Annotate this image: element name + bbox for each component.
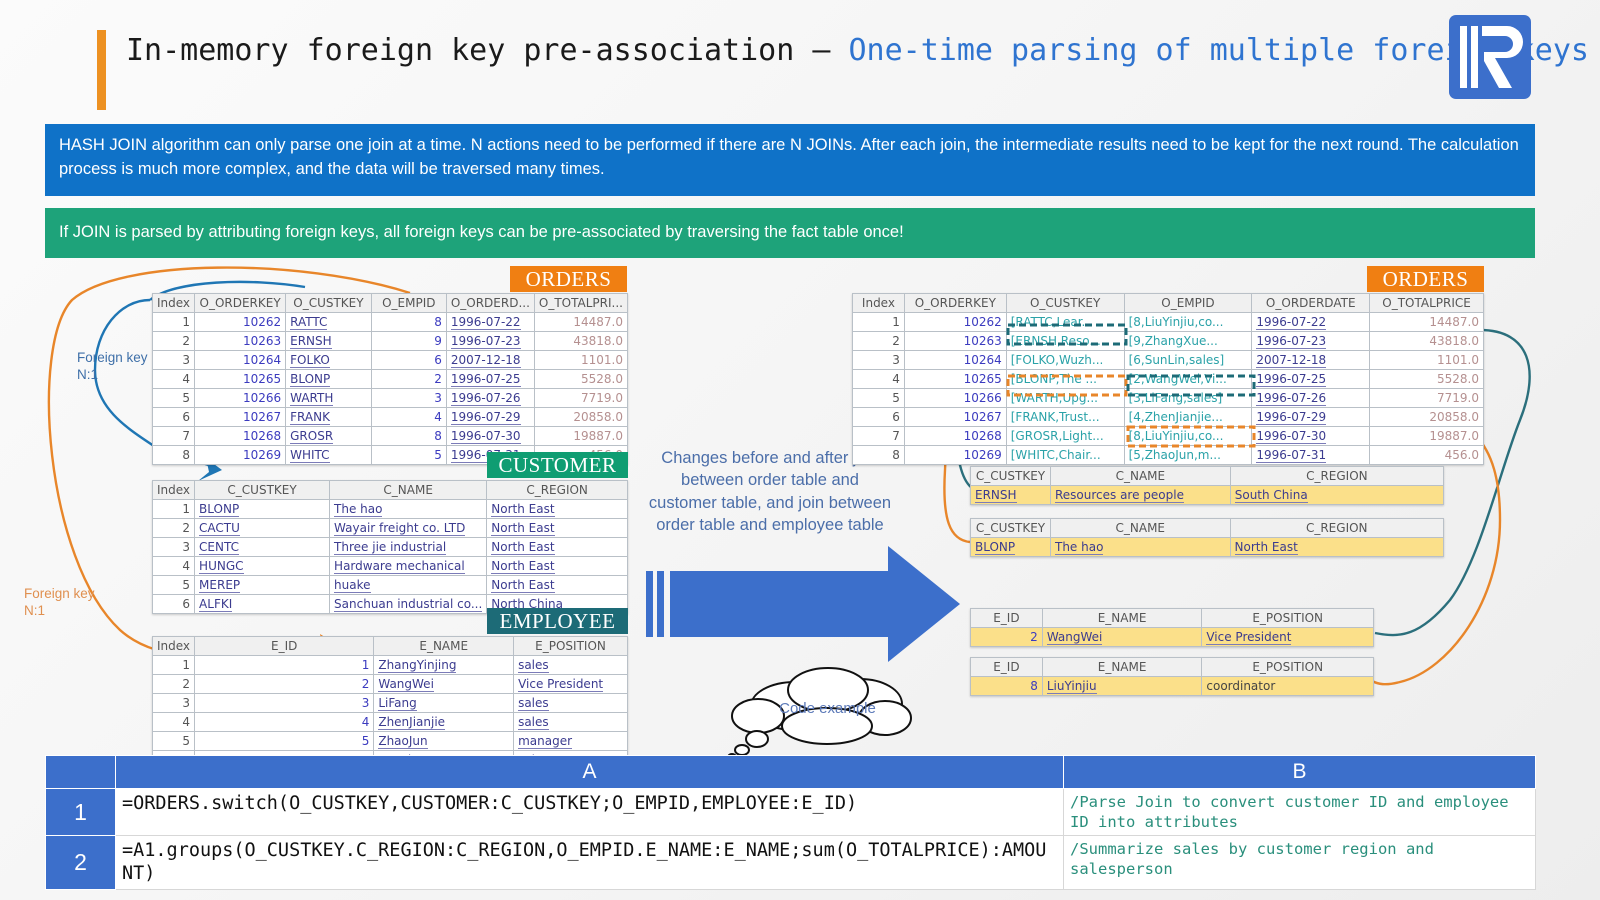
- table-cell: North East: [487, 557, 628, 576]
- table-cell: [6,SunLin,sales]: [1124, 351, 1252, 370]
- table-cell: 5: [195, 732, 374, 751]
- label-foreign-key-top-l2: N:1: [77, 367, 172, 384]
- code-row: 1=ORDERS.switch(O_CUSTKEY,CUSTOMER:C_CUS…: [46, 789, 1536, 836]
- table-cell: [WHITC,Chair...: [1006, 446, 1124, 465]
- table-row: 410265BLONP21996-07-255528.0: [153, 370, 628, 389]
- table-cell: 10266: [904, 389, 1006, 408]
- table-cell: ERNSH: [971, 486, 1051, 505]
- table-cell: 3: [853, 351, 905, 370]
- table-employee-result-2: E_IDE_NAMEE_POSITION 8LiuYinjiucoordinat…: [970, 657, 1374, 696]
- table-cell: North East: [487, 519, 628, 538]
- code-row: 2=A1.groups(O_CUSTKEY.C_REGION:C_REGION,…: [46, 836, 1536, 889]
- table-cell: 1996-07-22: [1252, 313, 1370, 332]
- table-row: 5MEREPhuakeNorth East: [153, 576, 628, 595]
- code-col-header-a: A: [116, 756, 1064, 789]
- code-row-number: 1: [46, 789, 116, 836]
- table-cell: 10262: [904, 313, 1006, 332]
- col-header-index: Index: [853, 294, 905, 313]
- table-row: 110262RATTC81996-07-2214487.0: [153, 313, 628, 332]
- table-cell: coordinator: [1202, 677, 1374, 696]
- table-cell: 10265: [904, 370, 1006, 389]
- code-table-wrap: A B 1=ORDERS.switch(O_CUSTKEY,CUSTOMER:C…: [45, 755, 1535, 890]
- table-orders-left: IndexO_ORDERKEYO_CUSTKEYO_EMPIDO_ORDERD.…: [152, 293, 628, 465]
- table-cell: 4: [153, 557, 195, 576]
- table-row: 2WangWeiVice President: [971, 628, 1374, 647]
- table-cell: North East: [487, 500, 628, 519]
- table-cell: BLONP: [286, 370, 372, 389]
- table-cell: 6: [153, 408, 195, 427]
- table-cell: 5: [153, 576, 195, 595]
- slide-canvas: In-memory foreign key pre-association – …: [0, 0, 1600, 900]
- table-header-row: IndexO_ORDERKEYO_CUSTKEYO_EMPIDO_ORDERDA…: [853, 294, 1484, 313]
- table-cell: Sanchuan industrial co...: [330, 595, 487, 614]
- table-cell: 1996-07-23: [1252, 332, 1370, 351]
- table-cell: 3: [371, 389, 446, 408]
- table-cell: [8,LiuYinjiu,co...: [1124, 313, 1252, 332]
- title-accent-bar: [97, 30, 106, 110]
- table-cell: North East: [487, 538, 628, 557]
- col-header-o-custkey: O_CUSTKEY: [1006, 294, 1124, 313]
- table-cell: 1996-07-29: [446, 408, 534, 427]
- table-cell: ZhenJianjie: [374, 713, 514, 732]
- col-header-o-orderdate: O_ORDERDATE: [1252, 294, 1370, 313]
- col-header-o-totalpri: O_TOTALPRI...: [534, 294, 627, 313]
- table-cell: Resources are people: [1050, 486, 1230, 505]
- table-orders-right: IndexO_ORDERKEYO_CUSTKEYO_EMPIDO_ORDERDA…: [852, 293, 1484, 465]
- table-row: 810269[WHITC,Chair...[5,ZhaoJun,m...1996…: [853, 446, 1484, 465]
- code-row-number: 2: [46, 836, 116, 889]
- table-header-row: C_CUSTKEYC_NAMEC_REGION: [971, 519, 1444, 538]
- col-header-c-custkey: C_CUSTKEY: [971, 519, 1051, 538]
- table-cell: FOLKO: [286, 351, 372, 370]
- table-row: BLONPThe haoNorth East: [971, 538, 1444, 557]
- table-cell: BLONP: [195, 500, 330, 519]
- code-table: A B 1=ORDERS.switch(O_CUSTKEY,CUSTOMER:C…: [45, 755, 1536, 890]
- table-row: 710268[GROSR,Light...[8,LiuYinjiu,co...1…: [853, 427, 1484, 446]
- col-header-e-position: E_POSITION: [514, 637, 628, 656]
- code-col-header-blank: [46, 756, 116, 789]
- table-cell: 2: [153, 519, 195, 538]
- table-row: 1BLONPThe haoNorth East: [153, 500, 628, 519]
- table-cell: WARTH: [286, 389, 372, 408]
- table-cell: 2: [153, 332, 195, 351]
- col-header-o-orderkey: O_ORDERKEY: [195, 294, 286, 313]
- table-cell: 1: [853, 313, 905, 332]
- table-cell: CENTC: [195, 538, 330, 557]
- table-cell: 9: [371, 332, 446, 351]
- table-cell: sales: [514, 656, 628, 675]
- table-cell: [9,ZhangXue...: [1124, 332, 1252, 351]
- table-cell: 5: [153, 389, 195, 408]
- table-header-row: E_IDE_NAMEE_POSITION: [971, 609, 1374, 628]
- table-cell: 10269: [904, 446, 1006, 465]
- table-cell: [BLONP,The ...: [1006, 370, 1124, 389]
- table-cell: ERNSH: [286, 332, 372, 351]
- table-cell: sales: [514, 713, 628, 732]
- table-cell: The hao: [1050, 538, 1230, 557]
- col-header-e-position: E_POSITION: [1202, 609, 1374, 628]
- label-foreign-key-top: Foreign key N:1: [77, 350, 172, 384]
- table-cell: 1101.0: [1370, 351, 1484, 370]
- table-cell: 14487.0: [1370, 313, 1484, 332]
- table-header-row: IndexE_IDE_NAMEE_POSITION: [153, 637, 628, 656]
- table-row: 44ZhenJianjiesales: [153, 713, 628, 732]
- table-cell: 5: [371, 446, 446, 465]
- table-row: 22WangWeiVice President: [153, 675, 628, 694]
- table-cell: 2: [853, 332, 905, 351]
- table-cell: The hao: [330, 500, 487, 519]
- col-header-o-empid: O_EMPID: [1124, 294, 1252, 313]
- col-header-e-name: E_NAME: [374, 637, 514, 656]
- table-cell: 7719.0: [534, 389, 627, 408]
- table-customer-result-2: C_CUSTKEYC_NAMEC_REGION BLONPThe haoNort…: [970, 518, 1444, 557]
- table-cell: 4: [371, 408, 446, 427]
- table-cell: CACTU: [195, 519, 330, 538]
- table-row: 8LiuYinjiucoordinator: [971, 677, 1374, 696]
- table-cell: 3: [153, 694, 195, 713]
- code-col-header-b: B: [1064, 756, 1536, 789]
- table-row: 55ZhaoJunmanager: [153, 732, 628, 751]
- caption-customer: CUSTOMER: [487, 452, 628, 478]
- table-cell: North East: [487, 576, 628, 595]
- table-cell: 1996-07-31: [1252, 446, 1370, 465]
- page-title: In-memory foreign key pre-association – …: [126, 33, 1426, 79]
- table-cell: 6: [371, 351, 446, 370]
- table-cell: 1996-07-29: [1252, 408, 1370, 427]
- label-foreign-key-top-l1: Foreign key: [77, 350, 172, 367]
- table-cell: [FOLKO,Wuzh...: [1006, 351, 1124, 370]
- table-cell: 10264: [195, 351, 286, 370]
- table-cell: Wayair freight co. LTD: [330, 519, 487, 538]
- table-row: 510266WARTH31996-07-267719.0: [153, 389, 628, 408]
- table-cell: ZhaoJun: [374, 732, 514, 751]
- table-cell: 2: [371, 370, 446, 389]
- table-cell: 1101.0: [534, 351, 627, 370]
- table-row: 310264[FOLKO,Wuzh...[6,SunLin,sales]2007…: [853, 351, 1484, 370]
- table-cell: ZhangYinjing: [374, 656, 514, 675]
- table-cell: 8: [371, 427, 446, 446]
- table-cell: Three jie industrial: [330, 538, 487, 557]
- table-cell: [RATTC,Lear...: [1006, 313, 1124, 332]
- table-row: 410265[BLONP,The ...[2,WangWei,Vi...1996…: [853, 370, 1484, 389]
- table-cell: 10268: [904, 427, 1006, 446]
- table-customer-result-1: C_CUSTKEYC_NAMEC_REGION ERNSHResources a…: [970, 466, 1444, 505]
- table-row: 210263[ERNSH,Reso...[9,ZhangXue...1996-0…: [853, 332, 1484, 351]
- table-row: 11ZhangYinjingsales: [153, 656, 628, 675]
- banner-hash-join: HASH JOIN algorithm can only parse one j…: [45, 124, 1535, 196]
- table-header-row: E_IDE_NAMEE_POSITION: [971, 658, 1374, 677]
- col-header-c-name: C_NAME: [1050, 467, 1230, 486]
- table-cell: [4,ZhenJianjie...: [1124, 408, 1252, 427]
- caption-orders-left: ORDERS: [510, 266, 627, 292]
- label-foreign-key-bottom-l1: Foreign key: [24, 586, 119, 603]
- table-cell: North East: [1230, 538, 1443, 557]
- table-employee-result-1: E_IDE_NAMEE_POSITION 2WangWeiVice Presid…: [970, 608, 1374, 647]
- table-cell: [GROSR,Light...: [1006, 427, 1124, 446]
- table-cell: WHITC: [286, 446, 372, 465]
- table-cell: South China: [1230, 486, 1443, 505]
- table-cell: BLONP: [971, 538, 1051, 557]
- table-cell: 10263: [904, 332, 1006, 351]
- table-cell: 10262: [195, 313, 286, 332]
- table-cell: HUNGC: [195, 557, 330, 576]
- table-cell: 5: [153, 732, 195, 751]
- table-header-row: IndexC_CUSTKEYC_NAMEC_REGION: [153, 481, 628, 500]
- table-cell: 5: [853, 389, 905, 408]
- table-cell: 10266: [195, 389, 286, 408]
- label-foreign-key-bottom-l2: N:1: [24, 603, 119, 620]
- table-cell: Vice President: [514, 675, 628, 694]
- col-header-e-id: E_ID: [971, 609, 1043, 628]
- table-row: 210263ERNSH91996-07-2343818.0: [153, 332, 628, 351]
- col-header-o-orderkey: O_ORDERKEY: [904, 294, 1006, 313]
- table-cell: 8: [371, 313, 446, 332]
- table-cell: WangWei: [1042, 628, 1202, 647]
- big-blue-arrow: [646, 546, 960, 662]
- table-cell: 1996-07-26: [446, 389, 534, 408]
- table-cell: 19887.0: [534, 427, 627, 446]
- col-header-index: Index: [153, 637, 195, 656]
- table-cell: 1996-07-25: [1252, 370, 1370, 389]
- code-table-header-row: A B: [46, 756, 1536, 789]
- col-header-c-name: C_NAME: [330, 481, 487, 500]
- col-header-c-region: C_REGION: [1230, 519, 1443, 538]
- col-header-o-empid: O_EMPID: [371, 294, 446, 313]
- col-header-c-region: C_REGION: [487, 481, 628, 500]
- table-cell: Hardware mechanical: [330, 557, 487, 576]
- col-header-e-id: E_ID: [195, 637, 374, 656]
- table-customer: IndexC_CUSTKEYC_NAMEC_REGION 1BLONPThe h…: [152, 480, 628, 614]
- col-header-e-name: E_NAME: [1042, 609, 1202, 628]
- table-cell: 1996-07-26: [1252, 389, 1370, 408]
- caption-orders-right: ORDERS: [1367, 266, 1484, 292]
- table-cell: 7: [853, 427, 905, 446]
- table-cell: 10267: [195, 408, 286, 427]
- col-header-e-position: E_POSITION: [1202, 658, 1374, 677]
- table-cell: Vice President: [1202, 628, 1374, 647]
- table-row: 3CENTCThree jie industrialNorth East: [153, 538, 628, 557]
- table-cell: MEREP: [195, 576, 330, 595]
- table-cell: LiuYinjiu: [1042, 677, 1202, 696]
- table-cell: GROSR: [286, 427, 372, 446]
- table-cell: huake: [330, 576, 487, 595]
- cloud-label: Code example: [745, 700, 910, 717]
- table-cell: 6: [853, 408, 905, 427]
- code-cell-b[interactable]: /Parse Join to convert customer ID and e…: [1064, 789, 1536, 836]
- table-cell: 8: [971, 677, 1043, 696]
- table-cell: 2: [153, 675, 195, 694]
- table-cell: 4: [195, 713, 374, 732]
- table-cell: RATTC: [286, 313, 372, 332]
- table-cell: 2: [971, 628, 1043, 647]
- table-row: 110262[RATTC,Lear...[8,LiuYinjiu,co...19…: [853, 313, 1484, 332]
- table-cell: 4: [153, 713, 195, 732]
- table-header-row: C_CUSTKEYC_NAMEC_REGION: [971, 467, 1444, 486]
- table-cell: [WARTH,Upg...: [1006, 389, 1124, 408]
- table-cell: 8: [153, 446, 195, 465]
- table-cell: 7: [153, 427, 195, 446]
- table-cell: 7719.0: [1370, 389, 1484, 408]
- table-cell: 1996-07-30: [446, 427, 534, 446]
- table-cell: 1996-07-23: [446, 332, 534, 351]
- table-cell: 10264: [904, 351, 1006, 370]
- table-row: 2CACTUWayair freight co. LTDNorth East: [153, 519, 628, 538]
- code-cell-a[interactable]: =A1.groups(O_CUSTKEY.C_REGION:C_REGION,O…: [116, 836, 1064, 889]
- col-header-c-region: C_REGION: [1230, 467, 1443, 486]
- table-cell: 1996-07-22: [446, 313, 534, 332]
- table-row: 710268GROSR81996-07-3019887.0: [153, 427, 628, 446]
- table-cell: 3: [153, 538, 195, 557]
- col-header-e-name: E_NAME: [1042, 658, 1202, 677]
- table-cell: 2: [195, 675, 374, 694]
- banner-foreign-key: If JOIN is parsed by attributing foreign…: [45, 208, 1535, 258]
- table-cell: WangWei: [374, 675, 514, 694]
- raqsoft-logo: [1447, 12, 1533, 102]
- table-header-row: IndexO_ORDERKEYO_CUSTKEYO_EMPIDO_ORDERD.…: [153, 294, 628, 313]
- table-cell: 5528.0: [1370, 370, 1484, 389]
- table-cell: [3,LiFang,sales]: [1124, 389, 1252, 408]
- table-cell: 10268: [195, 427, 286, 446]
- table-cell: 8: [853, 446, 905, 465]
- table-cell: FRANK: [286, 408, 372, 427]
- table-cell: [8,LiuYinjiu,co...: [1124, 427, 1252, 446]
- table-cell: 6: [153, 595, 195, 614]
- table-cell: 1: [153, 500, 195, 519]
- col-header-c-custkey: C_CUSTKEY: [195, 481, 330, 500]
- table-row: 610267FRANK41996-07-2920858.0: [153, 408, 628, 427]
- table-cell: 1: [195, 656, 374, 675]
- col-header-o-orderd: O_ORDERD...: [446, 294, 534, 313]
- col-header-o-totalprice: O_TOTALPRICE: [1370, 294, 1484, 313]
- table-cell: 43818.0: [1370, 332, 1484, 351]
- table-cell: 2007-12-18: [1252, 351, 1370, 370]
- table-cell: [FRANK,Trust...: [1006, 408, 1124, 427]
- table-cell: [5,ZhaoJun,m...: [1124, 446, 1252, 465]
- table-employee: IndexE_IDE_NAMEE_POSITION 11ZhangYinjing…: [152, 636, 628, 770]
- table-cell: [ERNSH,Reso...: [1006, 332, 1124, 351]
- table-row: ERNSHResources are peopleSouth China: [971, 486, 1444, 505]
- table-cell: manager: [514, 732, 628, 751]
- table-cell: 1: [153, 313, 195, 332]
- table-cell: 43818.0: [534, 332, 627, 351]
- table-cell: 20858.0: [1370, 408, 1484, 427]
- col-header-index: Index: [153, 294, 195, 313]
- table-cell: 10263: [195, 332, 286, 351]
- col-header-c-name: C_NAME: [1050, 519, 1230, 538]
- table-cell: sales: [514, 694, 628, 713]
- table-row: 510266[WARTH,Upg...[3,LiFang,sales]1996-…: [853, 389, 1484, 408]
- table-cell: 456.0: [1370, 446, 1484, 465]
- page-title-plain: In-memory foreign key pre-association –: [126, 33, 848, 68]
- table-cell: 1996-07-30: [1252, 427, 1370, 446]
- table-cell: 5528.0: [534, 370, 627, 389]
- table-cell: 3: [195, 694, 374, 713]
- table-cell: 4: [853, 370, 905, 389]
- table-cell: 2007-12-18: [446, 351, 534, 370]
- table-cell: 10267: [904, 408, 1006, 427]
- table-cell: [2,WangWei,Vi...: [1124, 370, 1252, 389]
- table-cell: 1: [153, 656, 195, 675]
- table-cell: 1996-07-25: [446, 370, 534, 389]
- table-cell: 19887.0: [1370, 427, 1484, 446]
- table-cell: 20858.0: [534, 408, 627, 427]
- label-foreign-key-bottom: Foreign key N:1: [24, 586, 119, 620]
- table-row: 610267[FRANK,Trust...[4,ZhenJianjie...19…: [853, 408, 1484, 427]
- col-header-o-custkey: O_CUSTKEY: [286, 294, 372, 313]
- col-header-c-custkey: C_CUSTKEY: [971, 467, 1051, 486]
- col-header-e-id: E_ID: [971, 658, 1043, 677]
- table-cell: LiFang: [374, 694, 514, 713]
- table-cell: 10265: [195, 370, 286, 389]
- code-cell-b[interactable]: /Summarize sales by customer region and …: [1064, 836, 1536, 889]
- code-cell-a[interactable]: =ORDERS.switch(O_CUSTKEY,CUSTOMER:C_CUST…: [116, 789, 1064, 836]
- table-cell: 10269: [195, 446, 286, 465]
- table-row: 4HUNGCHardware mechanicalNorth East: [153, 557, 628, 576]
- table-row: 310264FOLKO62007-12-181101.0: [153, 351, 628, 370]
- table-cell: ALFKI: [195, 595, 330, 614]
- col-header-index: Index: [153, 481, 195, 500]
- table-row: 33LiFangsales: [153, 694, 628, 713]
- caption-employee: EMPLOYEE: [487, 608, 628, 634]
- table-cell: 14487.0: [534, 313, 627, 332]
